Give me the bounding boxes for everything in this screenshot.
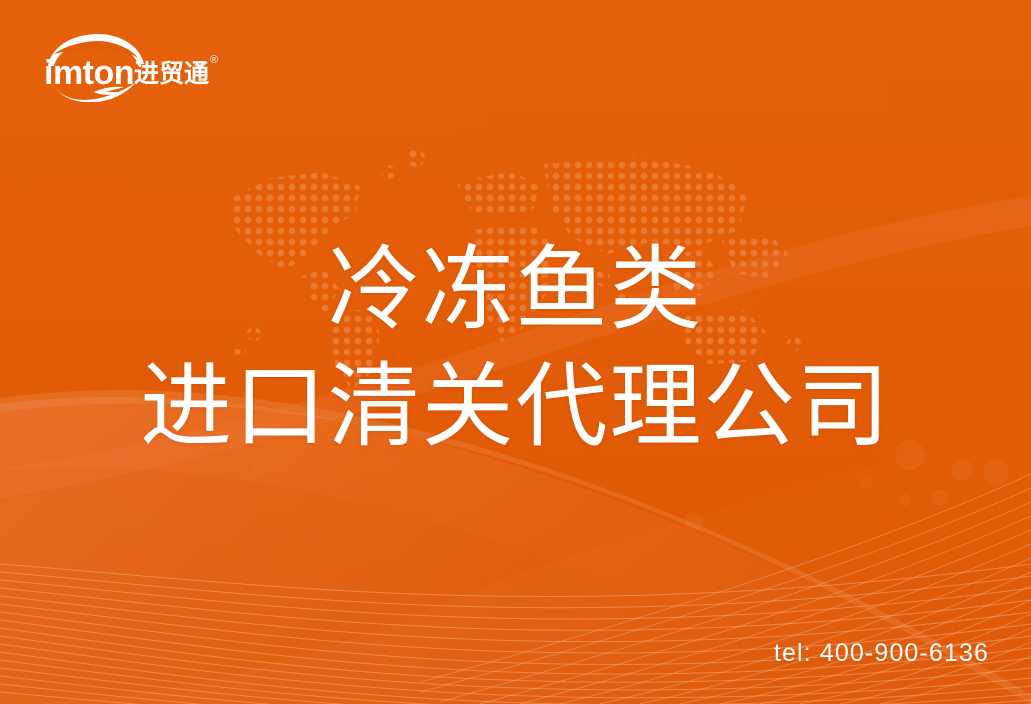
imton-logo[interactable]: imton 进贸通 ® bbox=[42, 32, 252, 102]
logo-wordmark: imton bbox=[44, 54, 134, 92]
registered-trademark-icon: ® bbox=[210, 54, 218, 66]
promo-banner: imton 进贸通 ® 冷冻鱼类 进口清关代理公司 tel: 400-900-6… bbox=[0, 0, 1031, 704]
logo-chinese-name: 进贸通 bbox=[134, 60, 209, 88]
telephone-text: tel: 400-900-6136 bbox=[774, 639, 989, 668]
